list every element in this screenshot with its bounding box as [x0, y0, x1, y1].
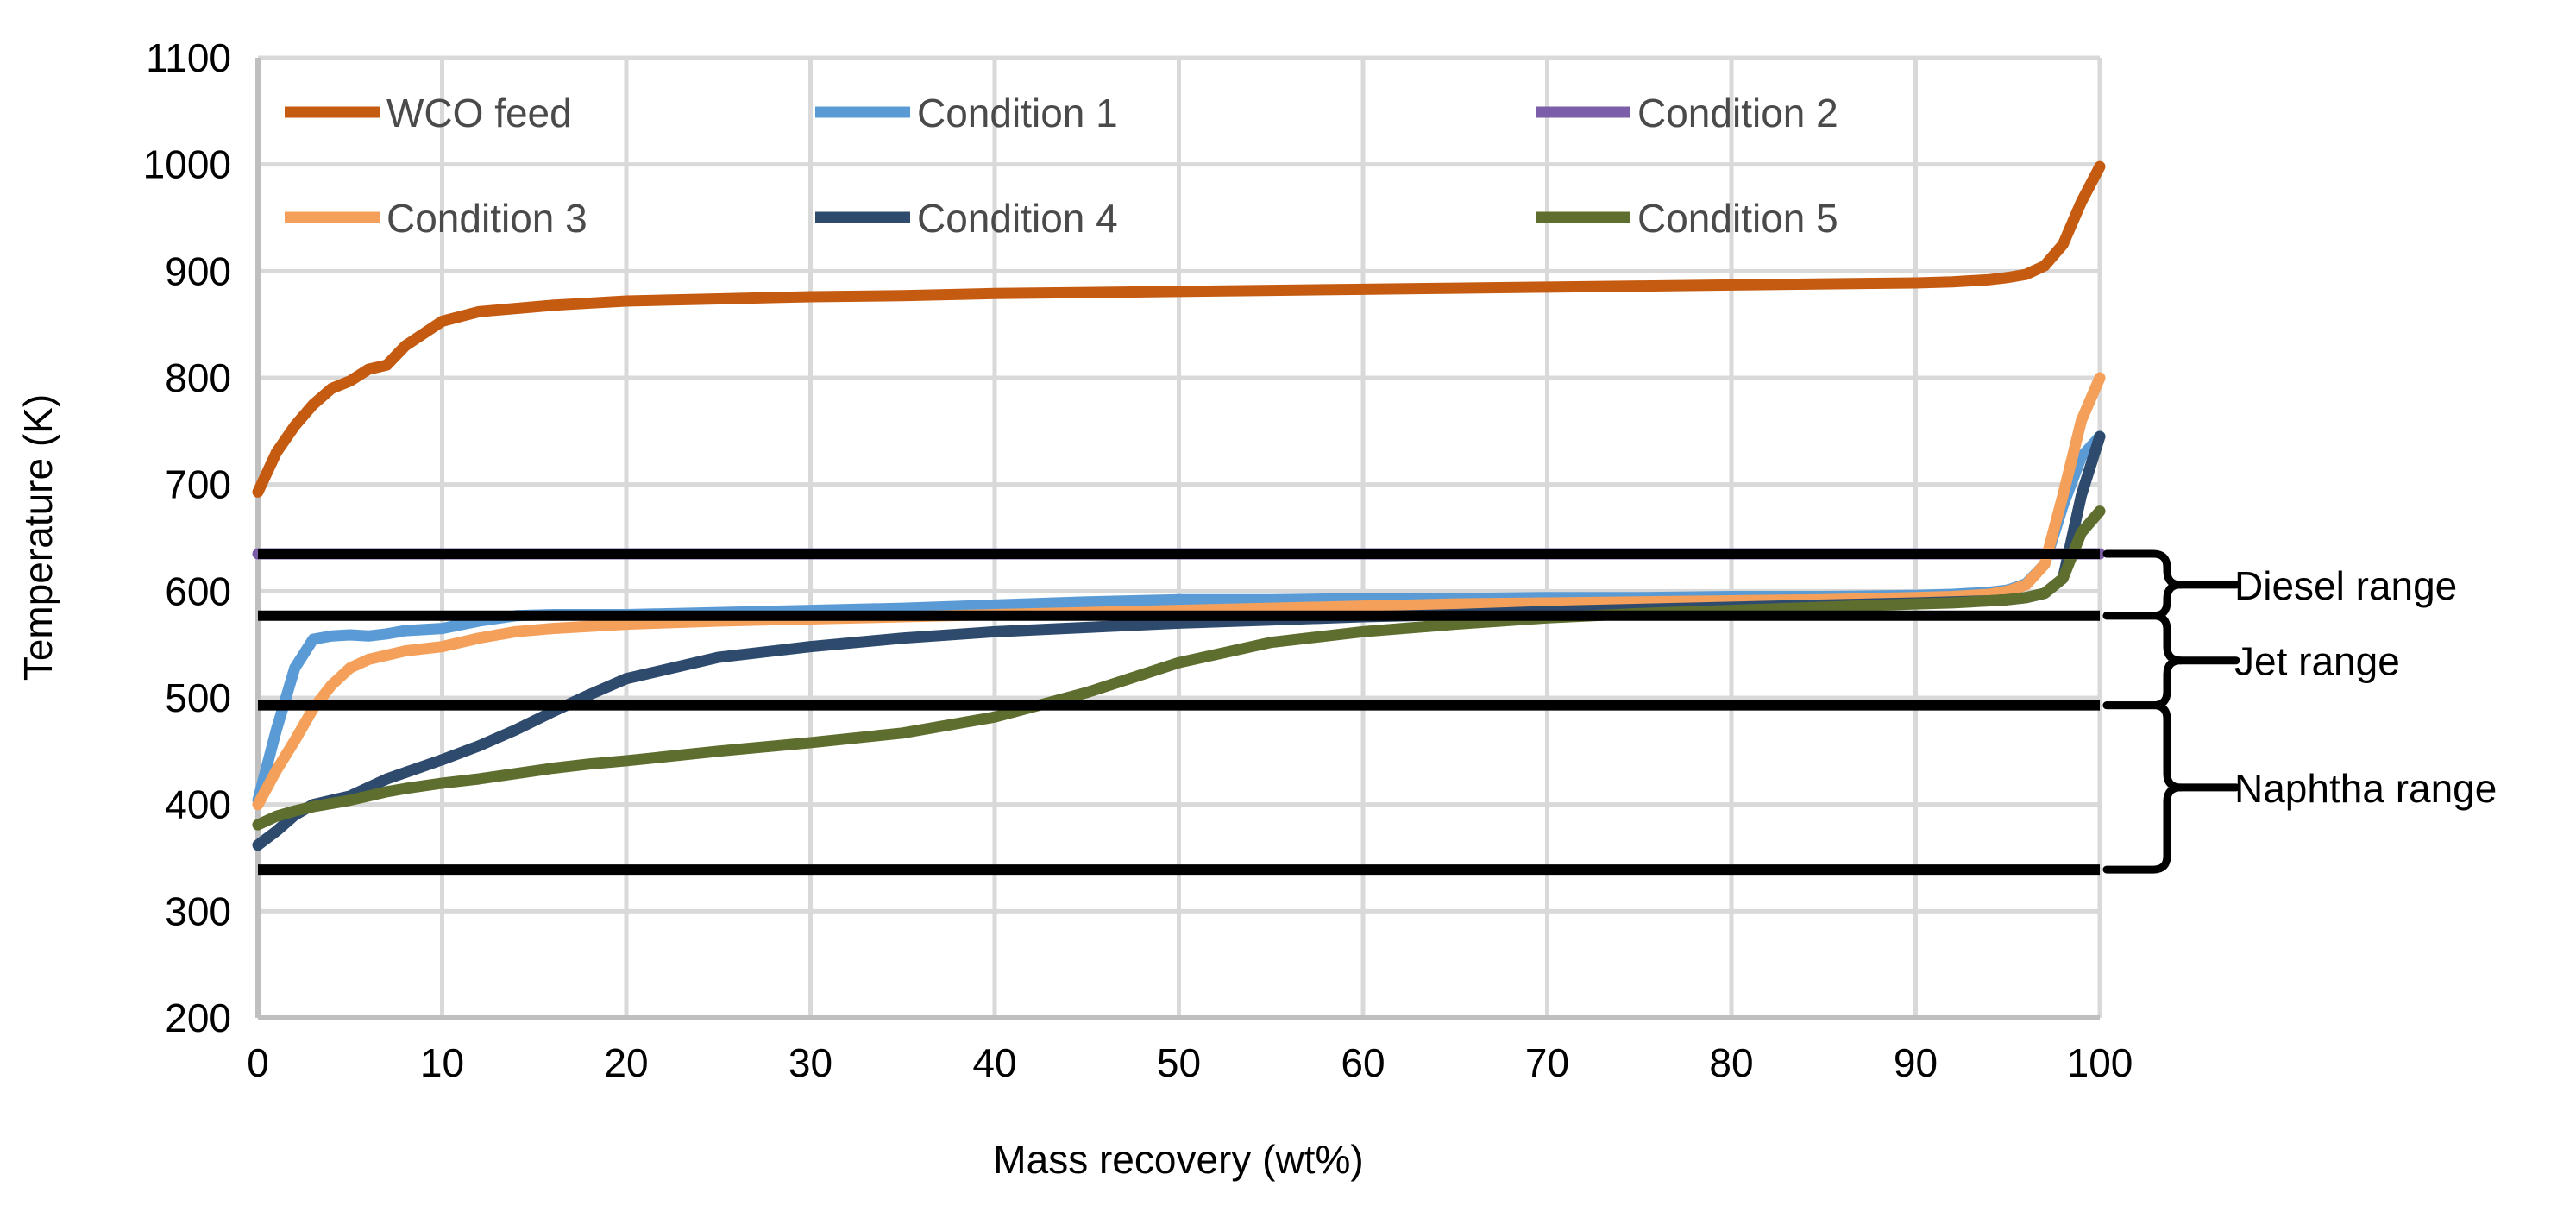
legend-label: WCO feed [386, 91, 572, 135]
annotation-label: Jet range [2234, 639, 2400, 684]
distillation-curve-chart: 20030040050060070080090010001100 0102030… [0, 0, 2576, 1218]
x-axis-title: Mass recovery (wt%) [993, 1137, 1363, 1182]
x-tick-label: 40 [972, 1040, 1016, 1085]
y-tick-label: 300 [165, 888, 231, 933]
legend-label: Condition 3 [386, 196, 587, 241]
chart-figure: 20030040050060070080090010001100 0102030… [0, 0, 2576, 1218]
x-tick-label: 10 [420, 1040, 464, 1085]
y-tick-label: 400 [165, 782, 231, 827]
legend-label: Condition 4 [917, 196, 1118, 241]
y-tick-labels: 20030040050060070080090010001100 [143, 35, 231, 1040]
y-tick-label: 700 [165, 462, 231, 507]
x-tick-label: 80 [1709, 1040, 1753, 1085]
range-annotations: Diesel rangeJet rangeNaphtha range [2107, 554, 2497, 870]
annotation-label: Diesel range [2234, 563, 2457, 608]
x-tick-labels: 0102030405060708090100 [247, 1040, 2133, 1085]
y-tick-label: 200 [165, 995, 231, 1040]
x-tick-label: 90 [1894, 1040, 1938, 1085]
x-tick-label: 60 [1341, 1040, 1385, 1085]
brace-path [2107, 616, 2181, 706]
x-tick-label: 30 [789, 1040, 832, 1085]
brace-path [2107, 554, 2181, 616]
annotation-jet-range: Jet range [2107, 616, 2400, 706]
y-tick-label: 500 [165, 675, 231, 720]
x-tick-label: 50 [1157, 1040, 1201, 1085]
y-tick-label: 1100 [146, 35, 231, 80]
x-tick-label: 0 [247, 1040, 269, 1085]
legend-label: Condition 2 [1637, 91, 1838, 135]
annotation-diesel-range: Diesel range [2107, 554, 2457, 616]
x-tick-label: 20 [604, 1040, 648, 1085]
legend-label: Condition 5 [1637, 196, 1838, 241]
y-tick-label: 1000 [143, 142, 231, 187]
legend-label: Condition 1 [917, 91, 1118, 135]
x-tick-label: 100 [2067, 1040, 2133, 1085]
x-tick-label: 70 [1525, 1040, 1569, 1085]
annotation-label: Naphtha range [2234, 766, 2497, 811]
y-tick-label: 600 [165, 568, 231, 613]
brace-path [2107, 706, 2181, 870]
annotation-naphtha-range: Naphtha range [2107, 706, 2497, 870]
y-axis-title: Temperature (K) [16, 394, 60, 681]
y-tick-label: 900 [165, 248, 231, 293]
y-tick-label: 800 [165, 355, 231, 400]
